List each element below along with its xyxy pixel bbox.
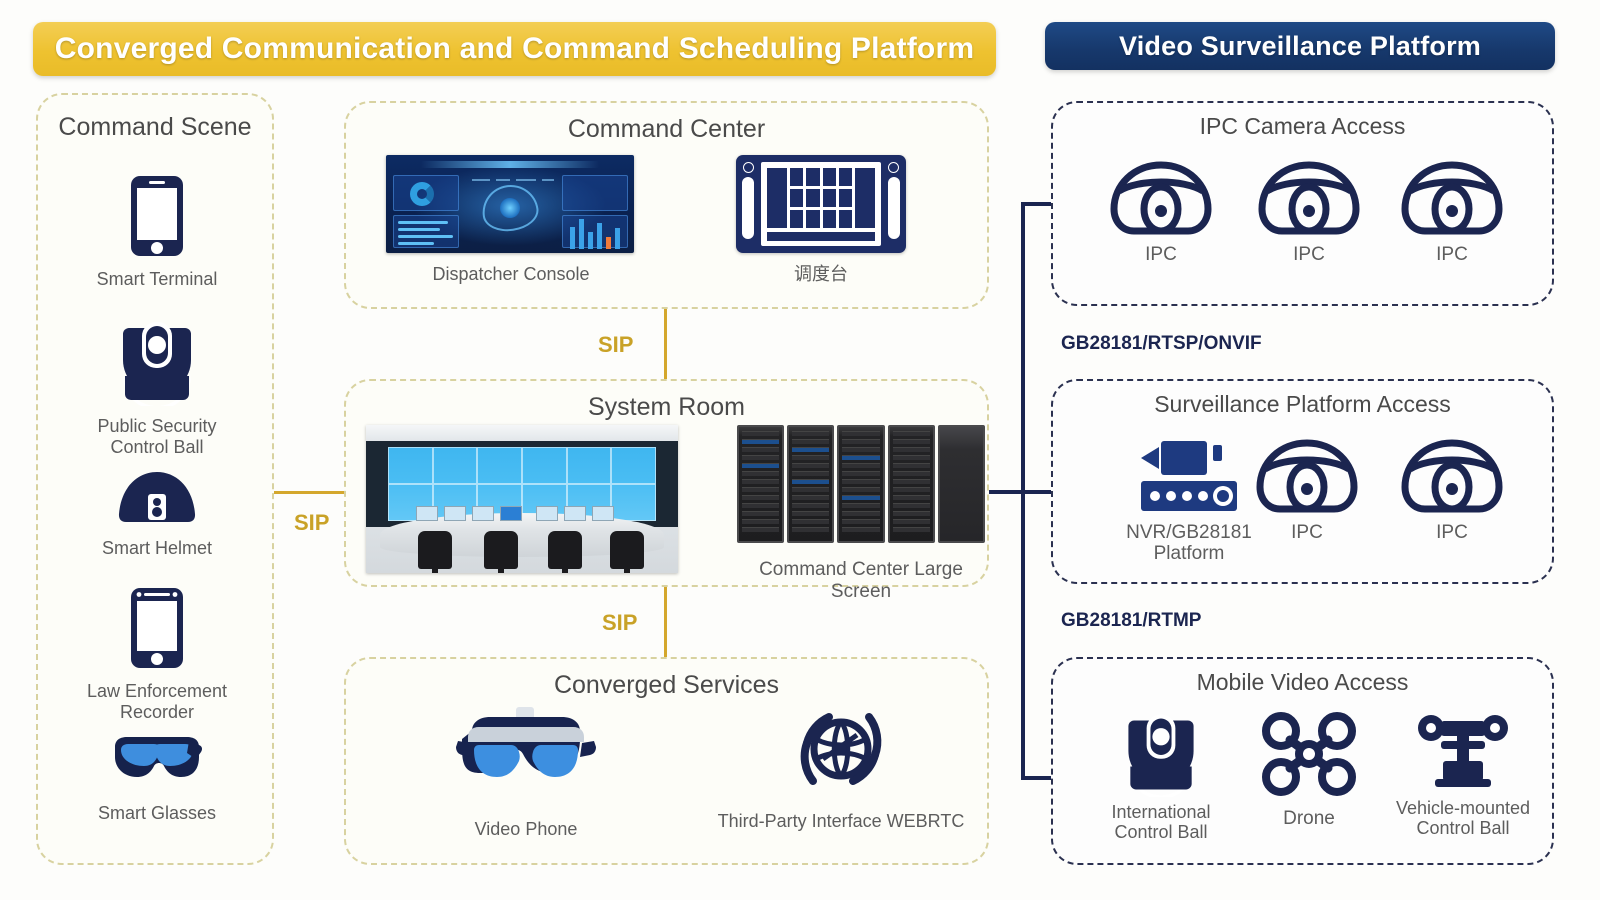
dispatch-console-icon	[736, 155, 906, 253]
smart-glasses-icon	[38, 733, 276, 791]
ptz-control-ball-icon	[38, 320, 276, 406]
item-third-party-interface-webrtc[interactable]: Third-Party Interface WEBRTC	[691, 699, 991, 832]
vehicle-mounted-camera-icon	[1373, 711, 1553, 793]
panel-title-ipc-camera-access: IPC Camera Access	[1053, 113, 1552, 140]
control-room-photo	[366, 425, 678, 573]
item-label: Drone	[1249, 809, 1369, 830]
protocol-label-gb28181-rtmp: GB28181/RTMP	[1061, 610, 1201, 632]
item-label: Smart Terminal	[38, 269, 276, 290]
panel-command-scene: Command Scene Smart Terminal	[36, 93, 274, 865]
panel-surveillance-platform-access: Surveillance Platform Access NVR/GB28181…	[1051, 379, 1554, 584]
item-ipc-camera-5[interactable]: IPC	[1392, 437, 1512, 544]
vr-headset-icon	[401, 707, 651, 799]
left-platform-banner: Converged Communication and Command Sche…	[33, 22, 996, 76]
item-label: International Control Ball	[1081, 803, 1241, 843]
item-vehicle-mounted-control-ball[interactable]: Vehicle-mounted Control Ball	[1373, 711, 1553, 839]
panel-title-converged-services: Converged Services	[346, 671, 987, 700]
branch-to-ipc-camera-access	[1021, 202, 1053, 206]
helmet-icon	[38, 470, 276, 530]
dome-camera-icon	[1392, 159, 1512, 239]
item-dispatch-console[interactable]: 调度台	[696, 155, 946, 285]
item-label: IPC	[1101, 245, 1221, 266]
item-label: Smart Helmet	[38, 538, 276, 559]
panel-ipc-camera-access: IPC Camera Access IPC	[1051, 101, 1554, 306]
dome-camera-icon	[1392, 437, 1512, 517]
item-label: Vehicle-mounted Control Ball	[1373, 799, 1553, 839]
sip-label-bottom: SIP	[602, 610, 637, 636]
item-smart-glasses[interactable]: Smart Glasses	[38, 733, 276, 824]
branch-to-surveillance-platform-access	[1021, 490, 1053, 494]
panel-title-command-center: Command Center	[346, 115, 987, 144]
item-law-enforcement-recorder[interactable]: Law Enforcement Recorder	[38, 585, 276, 722]
item-ipc-camera-2[interactable]: IPC	[1249, 159, 1369, 266]
dome-camera-icon	[1249, 159, 1369, 239]
item-dispatcher-console[interactable]: Dispatcher Console	[386, 155, 636, 285]
panel-command-center: Command Center	[344, 101, 989, 309]
item-label: Video Phone	[401, 819, 651, 840]
panel-system-room: System Room	[344, 379, 989, 587]
item-control-room[interactable]	[366, 425, 678, 573]
dome-camera-icon	[1247, 437, 1367, 517]
item-label: Smart Glasses	[38, 803, 276, 824]
item-international-control-ball[interactable]: International Control Ball	[1081, 711, 1241, 843]
item-command-center-large-screen[interactable]: Command Center Large Screen	[736, 425, 986, 603]
item-label: Public Security Control Ball	[38, 416, 276, 457]
ptz-control-ball-icon	[1081, 711, 1241, 797]
sip-label-left: SIP	[294, 510, 329, 536]
server-racks-icon	[737, 425, 985, 543]
item-ipc-camera-3[interactable]: IPC	[1392, 159, 1512, 266]
webrtc-globe-icon	[691, 699, 991, 799]
item-label: Command Center Large Screen	[736, 559, 986, 603]
dashboard-screen-icon	[386, 155, 634, 253]
panel-title-mobile-video-access: Mobile Video Access	[1053, 669, 1552, 696]
connector-command-center-to-system-room	[664, 309, 667, 379]
panel-mobile-video-access: Mobile Video Access International Contro…	[1051, 657, 1554, 865]
item-drone[interactable]: Drone	[1249, 711, 1369, 830]
item-label: IPC	[1392, 523, 1512, 544]
connector-system-room-to-converged	[664, 587, 667, 657]
sip-label-top: SIP	[598, 332, 633, 358]
item-label: IPC	[1249, 245, 1369, 266]
item-label: Third-Party Interface WEBRTC	[691, 811, 991, 832]
drone-icon	[1249, 711, 1369, 797]
branch-to-mobile-video-access	[1021, 776, 1053, 780]
connector-command-scene-to-system-room	[274, 491, 344, 494]
item-video-phone[interactable]: Video Phone	[401, 707, 651, 840]
body-camera-recorder-icon	[38, 585, 276, 671]
panel-converged-services: Converged Services Video Phone	[344, 657, 989, 865]
protocol-label-gb28181-rtsp-onvif: GB28181/RTSP/ONVIF	[1061, 333, 1262, 355]
item-label: Law Enforcement Recorder	[38, 681, 276, 722]
item-label: IPC	[1247, 523, 1367, 544]
panel-title-surveillance-platform-access: Surveillance Platform Access	[1053, 391, 1552, 418]
item-smart-helmet[interactable]: Smart Helmet	[38, 470, 276, 559]
item-label: Dispatcher Console	[386, 264, 636, 285]
panel-title-system-room: System Room	[346, 393, 987, 422]
smartphone-icon	[38, 173, 276, 259]
diagram-canvas: Converged Communication and Command Sche…	[0, 0, 1600, 900]
item-public-security-control-ball[interactable]: Public Security Control Ball	[38, 320, 276, 457]
item-label: IPC	[1392, 245, 1512, 266]
dome-camera-icon	[1101, 159, 1221, 239]
item-label: 调度台	[696, 264, 946, 285]
item-ipc-camera-4[interactable]: IPC	[1247, 437, 1367, 544]
panel-title-command-scene: Command Scene	[38, 113, 272, 142]
item-smart-terminal[interactable]: Smart Terminal	[38, 173, 276, 290]
right-platform-banner: Video Surveillance Platform	[1045, 22, 1555, 70]
item-ipc-camera-1[interactable]: IPC	[1101, 159, 1221, 266]
